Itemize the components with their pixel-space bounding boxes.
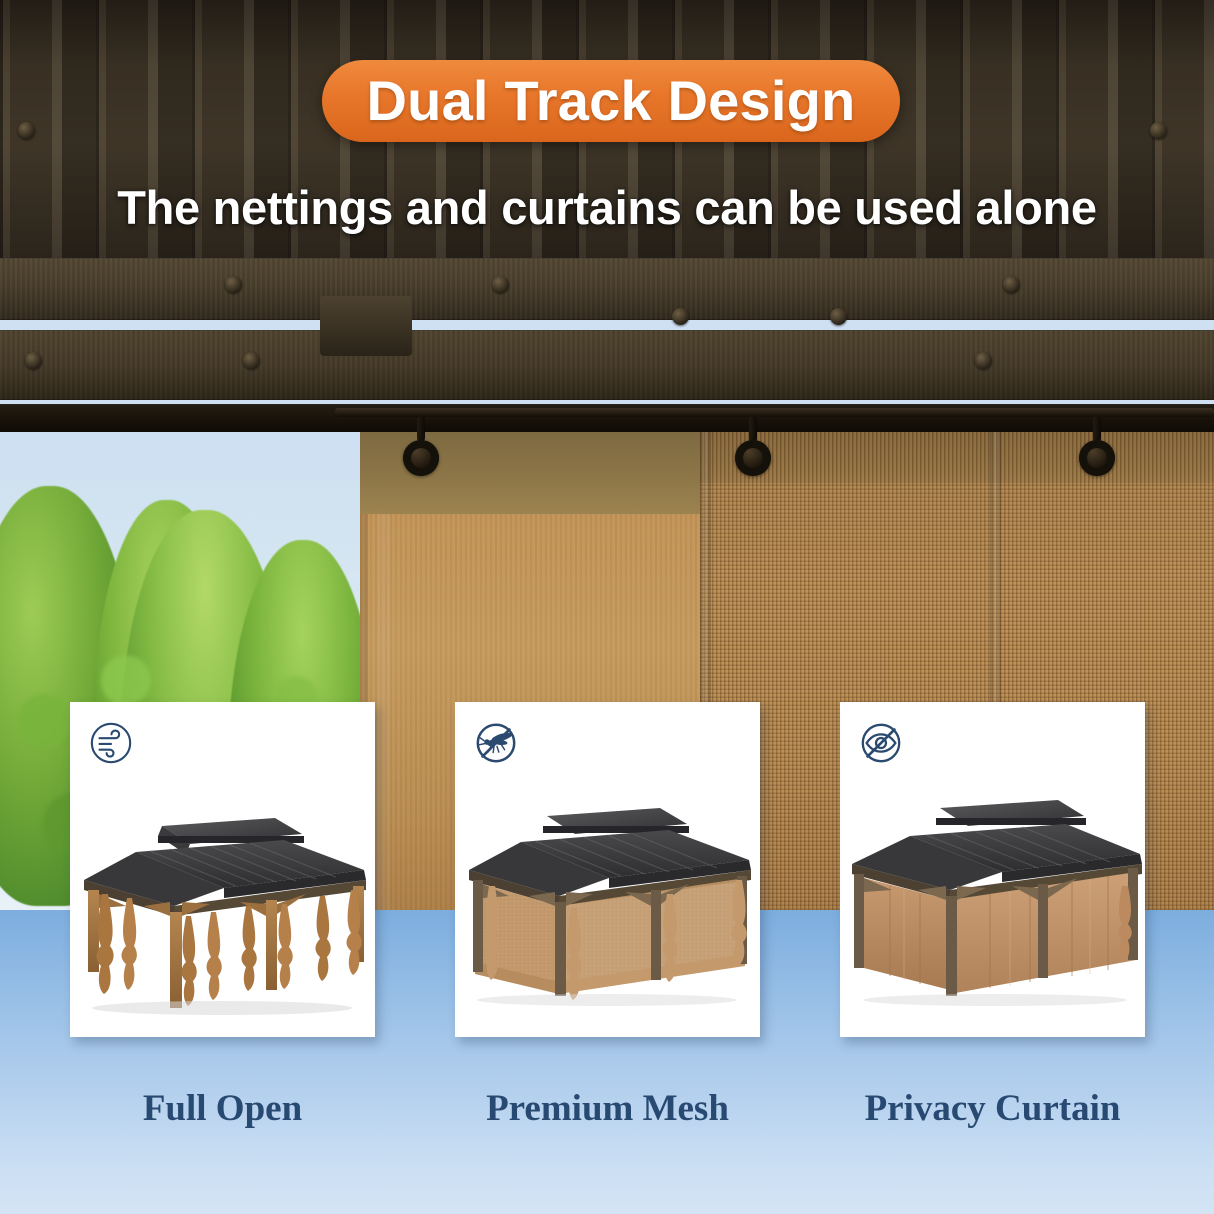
wind-icon	[88, 720, 134, 766]
gazebo-illustration-full-open	[70, 794, 375, 1024]
no-mosquito-icon	[473, 720, 519, 766]
feature-card-row: Full Open	[0, 0, 1214, 1214]
card-caption: Privacy Curtain	[840, 1087, 1145, 1130]
gazebo-illustration-premium-mesh	[455, 794, 760, 1024]
feature-card-premium-mesh[interactable]: Premium Mesh	[455, 702, 760, 1037]
eye-off-icon	[858, 720, 904, 766]
feature-card-full-open[interactable]: Full Open	[70, 702, 375, 1037]
card-caption: Full Open	[70, 1087, 375, 1130]
card-caption: Premium Mesh	[455, 1087, 760, 1130]
gazebo-illustration-privacy-curtain	[840, 794, 1145, 1024]
product-feature-image: Dual Track Design The nettings and curta…	[0, 0, 1214, 1214]
feature-card-privacy-curtain[interactable]: Privacy Curtain	[840, 702, 1145, 1037]
